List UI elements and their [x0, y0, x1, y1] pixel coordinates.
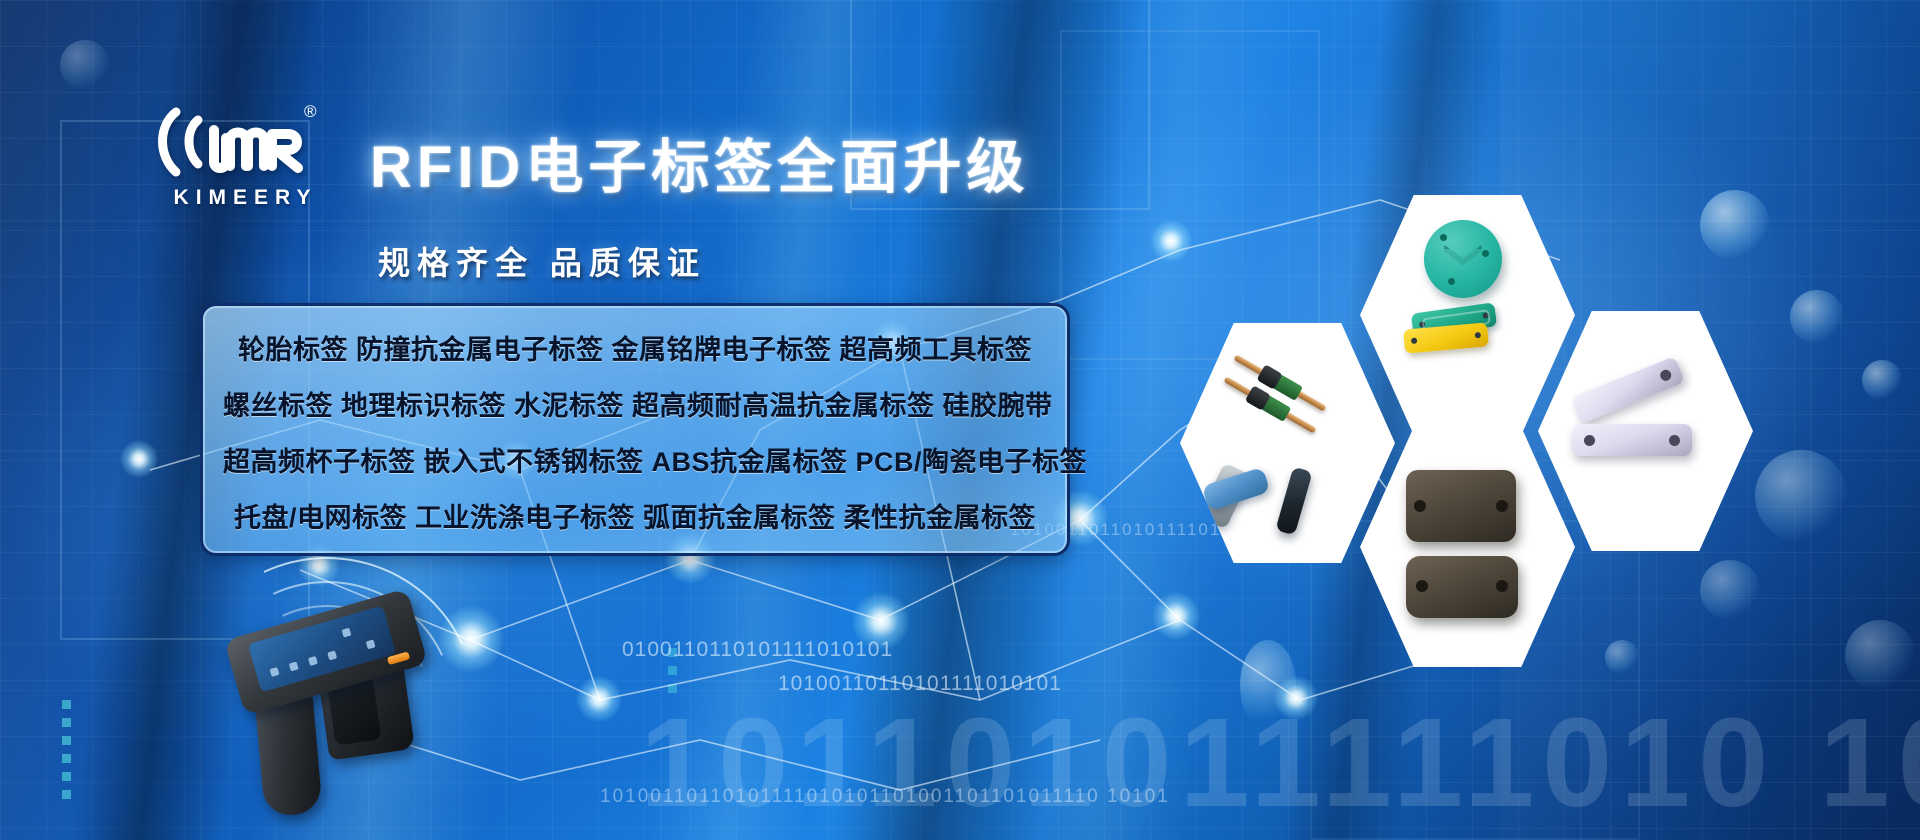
product-hexagon-cluster: [1180, 190, 1920, 670]
dot-column: [668, 648, 677, 693]
product-list-row: 螺丝标签 地理标识标签 水泥标签 超高频耐高温抗金属标签 硅胶腕带: [223, 384, 1047, 423]
rfid-banner: 0100110110101111010101 10100110110101111…: [0, 0, 1920, 840]
product-list-panel: 轮胎标签 防撞抗金属电子标签 金属铭牌电子标签 超高频工具标签 螺丝标签 地理标…: [200, 303, 1070, 556]
lavender-abs-tag: [1571, 356, 1685, 424]
handheld-rfid-reader[interactable]: [195, 595, 495, 840]
brand-logo[interactable]: ® KIMEERY: [142, 100, 342, 210]
teal-disc-tag: [1424, 220, 1502, 298]
dark-anti-metal-plate: [1406, 556, 1518, 618]
dot-column: [62, 700, 71, 799]
product-list-row: 轮胎标签 防撞抗金属电子标签 金属铭牌电子标签 超高频工具标签: [223, 328, 1047, 367]
dark-anti-metal-plates-hex[interactable]: [1360, 422, 1575, 672]
product-list-row: 托盘/电网标签 工业洗涤电子标签 弧面抗金属标签 柔性抗金属标签: [223, 496, 1047, 535]
lavender-abs-bar-tags-hex[interactable]: [1538, 306, 1753, 556]
registered-trademark-icon: ®: [304, 102, 317, 122]
dark-anti-metal-plate: [1406, 470, 1516, 542]
uhf-screw-and-blue-tags-hex[interactable]: [1180, 318, 1395, 568]
product-list-row: 超高频杯子标签 嵌入式不锈钢标签 ABS抗金属标签 PCB/陶瓷电子标签: [223, 440, 1047, 479]
teal-disc-and-bar-tags-hex[interactable]: [1360, 190, 1575, 440]
lavender-abs-tag: [1572, 424, 1692, 456]
dark-bar-tag: [1275, 467, 1312, 536]
page-title: RFID电子标签全面升级: [370, 120, 1029, 204]
page-subtitle: 规格齐全 品质保证: [378, 238, 706, 284]
brand-wordmark: KIMEERY: [142, 186, 342, 210]
